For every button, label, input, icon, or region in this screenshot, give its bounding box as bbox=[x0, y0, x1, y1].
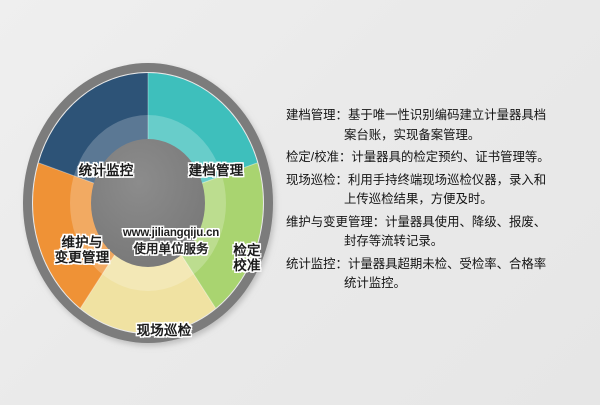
description-line: 维护与变更管理：计量器具使用、降级、报废、 bbox=[286, 213, 592, 233]
description-line: 统计监控：计量器具超期未检、受检率、合格率 bbox=[286, 255, 592, 275]
center-hub[interactable] bbox=[91, 139, 205, 267]
description-line: 案台账，实现备案管理。 bbox=[286, 126, 592, 146]
description-line: 现场巡检：利用手持终端现场巡检仪器，录入和 bbox=[286, 171, 592, 191]
description-item-xianchang: 现场巡检：利用手持终端现场巡检仪器，录入和 上传巡检结果，方便及时。 bbox=[286, 171, 592, 210]
description-line: 封存等流转记录。 bbox=[286, 232, 592, 252]
description-item-weihu: 维护与变更管理：计量器具使用、降级、报废、 封存等流转记录。 bbox=[286, 213, 592, 252]
description-line: 建档管理：基于唯一性识别编码建立计量器具档 bbox=[286, 106, 592, 126]
wheel-svg bbox=[18, 58, 278, 348]
wheel-diagram: www.jiliangqiju.cn 使用单位服务 建档管理 统计监控 检定 校… bbox=[18, 58, 278, 348]
description-line: 检定/校准：计量器具的检定预约、证书管理等。 bbox=[286, 148, 592, 168]
diagram-page: www.jiliangqiju.cn 使用单位服务 建档管理 统计监控 检定 校… bbox=[0, 0, 600, 405]
description-list: 建档管理：基于唯一性识别编码建立计量器具档 案台账，实现备案管理。 检定/校准：… bbox=[286, 106, 592, 297]
description-item-jiandang: 建档管理：基于唯一性识别编码建立计量器具档 案台账，实现备案管理。 bbox=[286, 106, 592, 145]
description-item-tongji: 统计监控：计量器具超期未检、受检率、合格率 统计监控。 bbox=[286, 255, 592, 294]
description-line: 上传巡检结果，方便及时。 bbox=[286, 190, 592, 210]
description-line: 统计监控。 bbox=[286, 274, 592, 294]
description-item-jianding: 检定/校准：计量器具的检定预约、证书管理等。 bbox=[286, 148, 592, 168]
